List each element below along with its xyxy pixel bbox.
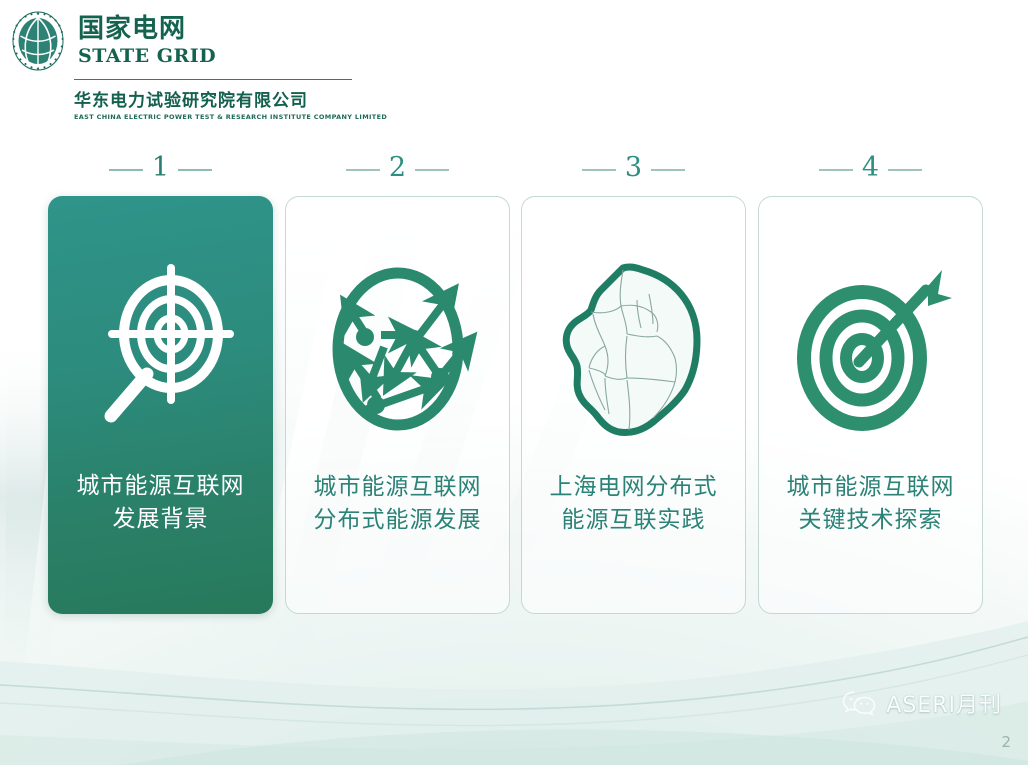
marker-dash-right <box>178 169 212 171</box>
agenda-card-1[interactable]: 城市能源互联网 发展背景 <box>48 196 273 614</box>
agenda-card-3[interactable]: 上海电网分布式 能源互联实践 <box>521 196 746 614</box>
state-grid-globe-emblem-icon <box>10 10 66 72</box>
agenda-card-4[interactable]: 城市能源互联网 关键技术探索 <box>758 196 983 614</box>
wechat-watermark: ASERI月刊 <box>841 687 1002 719</box>
brand-logo-block: 国家电网 STATE GRID <box>8 10 428 72</box>
marker-dash-left <box>819 169 853 171</box>
marker-dash-left <box>346 169 380 171</box>
card-number-marker-3: 3 <box>521 156 746 183</box>
agenda-card-2-label: 城市能源互联网 分布式能源发展 <box>286 471 509 538</box>
brand-name-cn: 国家电网 <box>78 16 216 42</box>
magnifier-target-icon <box>68 248 253 448</box>
agenda-card-3-label: 上海电网分布式 能源互联实践 <box>522 471 745 538</box>
marker-number: 3 <box>625 154 642 181</box>
card-number-markers: 1 2 3 4 <box>48 156 983 190</box>
agenda-card-1-line2: 发展背景 <box>48 503 273 536</box>
agenda-card-1-line1: 城市能源互联网 <box>77 473 245 499</box>
marker-dash-left <box>109 169 143 171</box>
agenda-card-1-label: 城市能源互联网 发展背景 <box>48 470 273 537</box>
presentation-slide: 国家电网 STATE GRID 华东电力试验研究院有限公司 EAST CHINA… <box>0 0 1028 765</box>
card-number-marker-4: 4 <box>758 156 983 183</box>
marker-dash-right <box>651 169 685 171</box>
marker-number: 2 <box>389 154 406 181</box>
marker-dash-right <box>415 169 449 171</box>
wechat-logo-icon <box>841 689 877 717</box>
brand-name-en: STATE GRID <box>78 47 216 66</box>
agenda-card-3-line1: 上海电网分布式 <box>550 474 718 500</box>
agenda-card-4-line2: 关键技术探索 <box>759 504 982 537</box>
network-nodes-oval-icon <box>305 249 490 449</box>
marker-dash-left <box>582 169 616 171</box>
agenda-card-2-line2: 分布式能源发展 <box>286 504 509 537</box>
agenda-card-4-line1: 城市能源互联网 <box>787 474 955 500</box>
shanghai-map-icon <box>541 249 726 449</box>
marker-dash-right <box>888 169 922 171</box>
agenda-card-2-line1: 城市能源互联网 <box>314 474 482 500</box>
organization-name-en: EAST CHINA ELECTRIC POWER TEST & RESEARC… <box>74 113 428 121</box>
header-divider-rule <box>74 79 352 80</box>
dartboard-arrow-icon <box>778 249 963 449</box>
watermark-text: ASERI月刊 <box>886 687 1002 719</box>
brand-wordmark: 国家电网 STATE GRID <box>78 16 216 66</box>
slide-header: 国家电网 STATE GRID 华东电力试验研究院有限公司 EAST CHINA… <box>8 10 428 130</box>
agenda-card-2[interactable]: 城市能源互联网 分布式能源发展 <box>285 196 510 614</box>
card-number-marker-2: 2 <box>285 156 510 183</box>
agenda-card-row: 城市能源互联网 发展背景 <box>48 196 983 614</box>
organization-name-cn: 华东电力试验研究院有限公司 <box>74 86 428 111</box>
card-number-marker-1: 1 <box>48 156 273 183</box>
page-number: 2 <box>1001 733 1011 751</box>
agenda-card-4-label: 城市能源互联网 关键技术探索 <box>759 471 982 538</box>
agenda-card-3-line2: 能源互联实践 <box>522 504 745 537</box>
marker-number: 4 <box>862 154 879 181</box>
marker-number: 1 <box>152 154 169 181</box>
